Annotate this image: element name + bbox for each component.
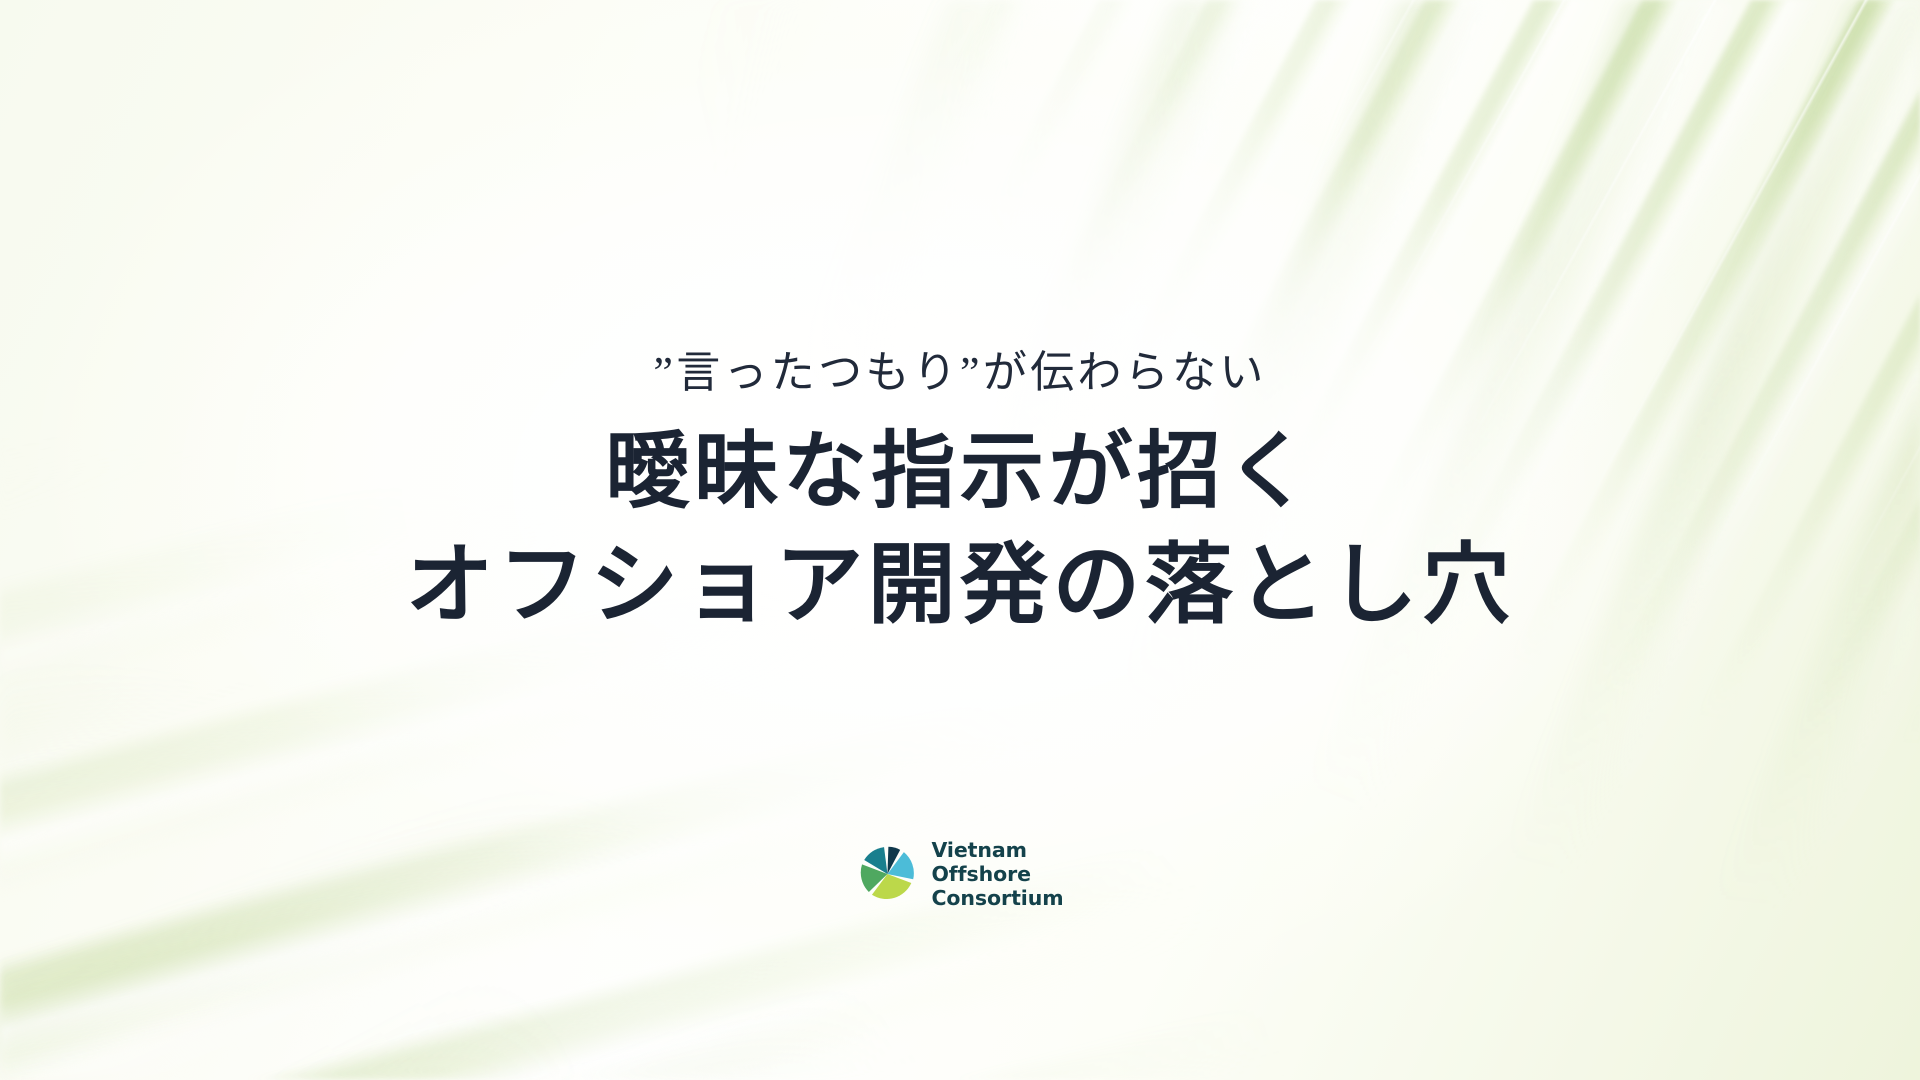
pie-circle-icon (856, 843, 918, 905)
page-title: 曖昧な指示が招く オフショア開発の落とし穴 (406, 418, 1515, 645)
logo-wordmark-line-3: Consortium (931, 886, 1063, 910)
brand-logo: Vietnam Offshore Consortium (856, 838, 1063, 910)
logo-wordmark-line-2: Offshore (931, 862, 1063, 886)
logo-wordmark: Vietnam Offshore Consortium (931, 838, 1063, 910)
logo-wordmark-line-1: Vietnam (931, 838, 1063, 862)
headline-line-2: オフショア開発の落とし穴 (406, 529, 1515, 645)
slide-content: ”言ったつもり”が伝わらない 曖昧な指示が招く オフショア開発の落とし穴 (0, 0, 1920, 1080)
title-slide: ”言ったつもり”が伝わらない 曖昧な指示が招く オフショア開発の落とし穴 Vie… (0, 0, 1920, 1080)
slide-eyebrow: ”言ったつもり”が伝わらない (653, 345, 1266, 400)
headline-line-1: 曖昧な指示が招く (406, 418, 1515, 529)
